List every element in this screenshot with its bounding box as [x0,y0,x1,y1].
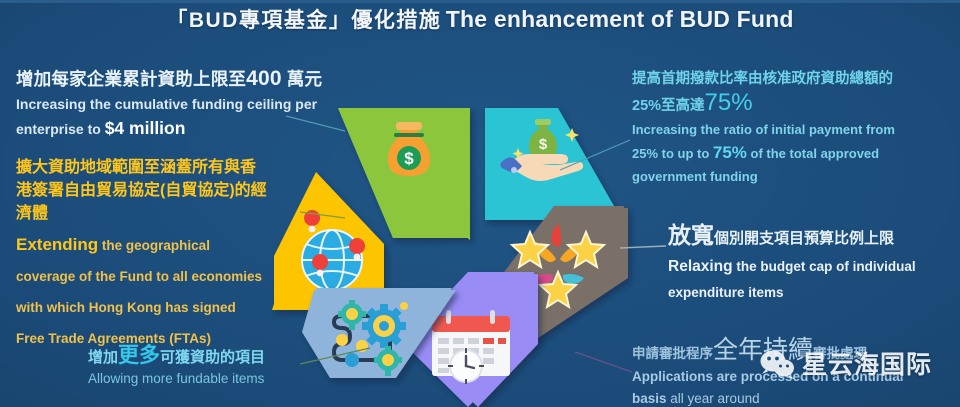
wechat-icon [760,350,796,380]
ceiling-en-line2: enterprise to $4 million [16,116,346,141]
measure-more-items-text: 增加更多可獲資助的項目 Allowing more fundable items [88,344,388,389]
calendar-clock-icon [432,310,510,384]
ceiling-en-line1: Increasing the cumulative funding ceilin… [16,92,346,116]
infographic-poster: 「BUD專項基金」優化措施 The enhancement of BUD Fun… [0,0,960,407]
relax-cn: 放寬個別開支項目預算比例上限 [668,222,958,252]
segment-ratio[interactable]: $ [485,108,622,220]
svg-text:$: $ [404,149,414,168]
measure-ratio-text: 提高首期撥款比率由核准政府資助總額的 25%至高達75% Increasing … [632,68,944,188]
items-en: Allowing more fundable items [88,369,388,389]
geo-cn-line1: 擴大資助地域範圍至涵蓋所有與香 [16,156,316,179]
geo-en-line2: coverage of the Fund to all economies [16,266,316,288]
relax-en-line1: Relaxing the budget cap of individual [668,255,958,278]
measure-ceiling-text: 增加每家企業累計資助上限至400 萬元 Increasing the cumul… [16,66,346,141]
ratio-cn-line1: 提高首期撥款比率由核准政府資助總額的 [632,68,944,91]
svg-text:$: $ [539,136,548,153]
poster-title: 「BUD專項基金」優化措施 The enhancement of BUD Fun… [0,4,960,34]
geo-cn-line3: 濟體 [16,202,316,225]
ratio-en-line1: Increasing the ratio of initial payment … [632,118,944,141]
geo-en-line3: with which Hong Kong has signed [16,297,316,319]
ceiling-cn: 增加每家企業累計資助上限至400 萬元 [16,66,346,92]
watermark-text: 星云海国际 [802,350,932,380]
ratio-en-line2: 25% to up to 75% of the total approved [632,141,944,165]
wechat-watermark: 星云海国际 [760,350,932,380]
year-en-line2: basis all year around [632,388,948,407]
measure-relaxing-text: 放寬個別開支項目預算比例上限 Relaxing the budget cap o… [668,222,958,304]
relax-en-line2: expenditure items [668,281,958,304]
ratio-cn-line2: 25%至高達75% [632,91,944,118]
ratio-en-line3: government funding [632,165,944,188]
geo-cn-line2: 港簽署自由貿易協定(自貿協定)的經 [16,179,316,202]
title-english: The enhancement of BUD Fund [446,6,794,32]
items-cn: 增加更多可獲資助的項目 [88,344,388,369]
geo-en-line1: Extending the geographical [16,234,316,257]
measure-geographical-text: 擴大資助地域範圍至涵蓋所有與香 港簽署自由貿易協定(自貿協定)的經 濟體 Ext… [16,156,316,350]
title-chinese: 「BUD專項基金」優化措施 [166,9,441,32]
